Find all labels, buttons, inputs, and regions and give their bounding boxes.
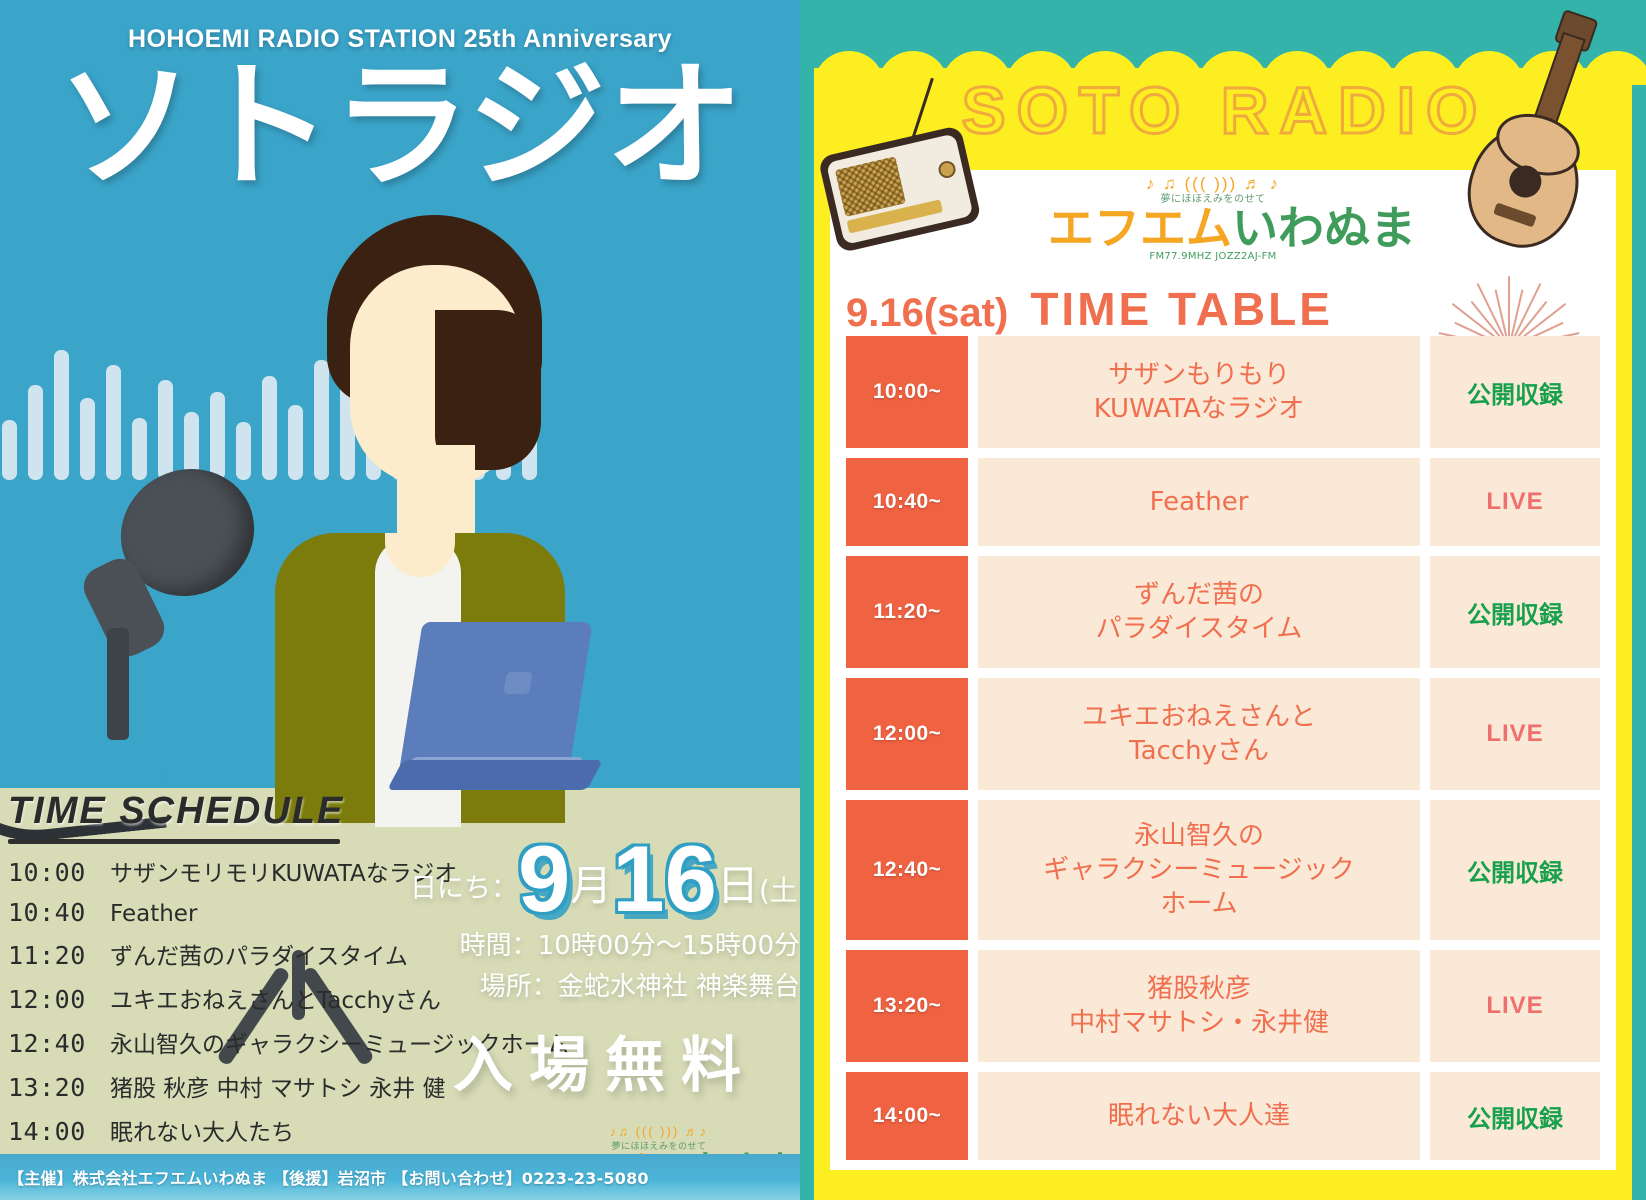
table-cell-kind: 公開収録 bbox=[1430, 1072, 1600, 1160]
date-label: 日にち： bbox=[410, 866, 518, 921]
time-schedule-list: 10:00サザンモリモリKUWATAなラジオ10:40Feather11:20ず… bbox=[8, 854, 448, 1147]
event-date-line: 日にち： 9 月 16 日 (土) bbox=[410, 838, 800, 921]
program-line: パラダイスタイム bbox=[1096, 612, 1303, 646]
table-cell-program: 永山智久のギャラクシーミュージックホーム bbox=[978, 800, 1420, 940]
table-cell-kind: 公開収録 bbox=[1430, 556, 1600, 668]
table-row: 11:20~ずんだ茜のパラダイスタイム公開収録 bbox=[846, 556, 1600, 668]
schedule-row-program: 猪股 秋彦 中村 マサトシ 永井 健 bbox=[110, 1069, 446, 1103]
date-day-number: 16 bbox=[612, 838, 717, 921]
program-line: Feather bbox=[1150, 485, 1249, 519]
waveform-bar bbox=[132, 418, 147, 480]
status-badge: 公開収録 bbox=[1467, 853, 1563, 888]
program-line: 永山智久の bbox=[1134, 819, 1264, 853]
station-name-part-b: いわぬま bbox=[1232, 201, 1416, 255]
table-cell-time: 11:20~ bbox=[846, 556, 968, 668]
table-cell-program: サザンもりもりKUWATAなラジオ bbox=[978, 336, 1420, 448]
schedule-row: 11:20ずんだ茜のパラダイスタイム bbox=[8, 937, 448, 971]
schedule-row: 14:00眠れない大人たち bbox=[8, 1113, 448, 1147]
status-badge: LIVE bbox=[1486, 992, 1543, 1020]
weekday-label: (土) bbox=[759, 869, 800, 921]
status-badge: LIVE bbox=[1486, 488, 1543, 516]
table-cell-program: Feather bbox=[978, 458, 1420, 546]
program-line: KUWATAなラジオ bbox=[1094, 392, 1305, 426]
time-schedule-divider bbox=[8, 839, 340, 844]
time-table-label: TIME TABLE bbox=[1030, 282, 1333, 336]
waveform-bar bbox=[106, 365, 121, 480]
time-table-date: 9.16(sat) bbox=[846, 291, 1008, 336]
table-cell-kind: 公開収録 bbox=[1430, 800, 1600, 940]
footer-credits-band: 【主催】株式会社エフエムいわぬま 【後援】岩沼市 【お問い合わせ】0223-23… bbox=[0, 1154, 800, 1200]
schedule-row-time: 14:00 bbox=[8, 1117, 100, 1146]
table-cell-time: 10:00~ bbox=[846, 336, 968, 448]
laptop-logo-patch bbox=[503, 672, 532, 694]
program-line: ユキエおねえさんと bbox=[1082, 700, 1316, 734]
schedule-row-program: サザンモリモリKUWATAなラジオ bbox=[110, 854, 457, 888]
table-cell-kind: LIVE bbox=[1430, 950, 1600, 1062]
music-notes-icon: ♪♫ ((( ))) ♬♪ bbox=[524, 1124, 794, 1139]
schedule-row-program: 眠れない大人たち bbox=[110, 1113, 294, 1147]
table-row: 12:40~永山智久のギャラクシーミュージックホーム公開収録 bbox=[846, 800, 1600, 940]
waveform-bar bbox=[28, 385, 43, 480]
right-poster: SOTO RADIO ♪ ♫ ((( ))) ♬ ♪ 夢にほほえみをのせて エフ… bbox=[800, 0, 1646, 1200]
event-place-line: 場所：金蛇水神社 神楽舞台 bbox=[410, 966, 800, 1003]
event-time-line: 時間：10時00分～15時00分 bbox=[410, 925, 800, 962]
time-table-header: 9.16(sat) TIME TABLE bbox=[846, 282, 1386, 336]
month-kanji: 月 bbox=[570, 852, 612, 921]
schedule-row: 10:00サザンモリモリKUWATAなラジオ bbox=[8, 854, 448, 888]
program-line: ずんだ茜の bbox=[1134, 578, 1264, 612]
station-name: エフエムいわぬま bbox=[1048, 205, 1378, 251]
table-cell-program: ユキエおねえさんとTacchyさん bbox=[978, 678, 1420, 790]
table-cell-time: 12:40~ bbox=[846, 800, 968, 940]
schedule-row: 12:40永山智久のギャラクシーミュージックホーム bbox=[8, 1025, 448, 1059]
schedule-row: 12:00ユキエおねえさんとTacchyさん bbox=[8, 981, 448, 1015]
schedule-row-program: ずんだ茜のパラダイスタイム bbox=[110, 937, 408, 971]
poster-title: ソトラジオ bbox=[0, 52, 800, 201]
program-line: 中村マサトシ・永井健 bbox=[1069, 1006, 1329, 1040]
footer-credits-text: 【主催】株式会社エフエムいわぬま 【後援】岩沼市 【お問い合わせ】0223-23… bbox=[8, 1165, 649, 1189]
sunburst-decoration bbox=[1424, 248, 1594, 348]
event-info-block: 日にち： 9 月 16 日 (土) 時間：10時00分～15時00分 場所：金蛇… bbox=[410, 838, 800, 1104]
program-line: サザンもりもり bbox=[1108, 358, 1290, 392]
table-cell-program: ずんだ茜のパラダイスタイム bbox=[978, 556, 1420, 668]
status-badge: 公開収録 bbox=[1467, 375, 1563, 410]
table-cell-kind: LIVE bbox=[1430, 458, 1600, 546]
status-badge: 公開収録 bbox=[1467, 1099, 1563, 1134]
station-logo-right: ♪ ♫ ((( ))) ♬ ♪ 夢にほほえみをのせて エフエムいわぬま FM77… bbox=[1048, 174, 1378, 262]
waveform-bar bbox=[210, 392, 225, 480]
schedule-row-time: 10:40 bbox=[8, 898, 100, 927]
schedule-row-time: 13:20 bbox=[8, 1073, 100, 1102]
laptop-base bbox=[387, 760, 603, 790]
table-cell-program: 猪股秋彦中村マサトシ・永井健 bbox=[978, 950, 1420, 1062]
table-cell-time: 14:00~ bbox=[846, 1072, 968, 1160]
table-row: 13:20~猪股秋彦中村マサトシ・永井健LIVE bbox=[846, 950, 1600, 1062]
table-cell-time: 12:00~ bbox=[846, 678, 968, 790]
table-row: 14:00~眠れない大人達公開収録 bbox=[846, 1072, 1600, 1160]
program-line: Tacchyさん bbox=[1129, 734, 1269, 768]
waveform-bar bbox=[80, 398, 95, 480]
schedule-row-program: Feather bbox=[110, 901, 197, 927]
schedule-row-time: 12:00 bbox=[8, 985, 100, 1014]
time-schedule-title: TIME SCHEDULE bbox=[8, 790, 448, 833]
table-cell-kind: 公開収録 bbox=[1430, 336, 1600, 448]
table-cell-kind: LIVE bbox=[1430, 678, 1600, 790]
program-line: 猪股秋彦 bbox=[1147, 972, 1251, 1006]
schedule-row-time: 11:20 bbox=[8, 941, 100, 970]
table-cell-program: 眠れない大人達 bbox=[978, 1072, 1420, 1160]
time-schedule-block: TIME SCHEDULE 10:00サザンモリモリKUWATAなラジオ10:4… bbox=[8, 790, 448, 1157]
waveform-bar bbox=[54, 350, 69, 480]
free-admission-text: 入場無料 bbox=[410, 1017, 800, 1104]
table-row: 10:00~サザンもりもりKUWATAなラジオ公開収録 bbox=[846, 336, 1600, 448]
status-badge: LIVE bbox=[1486, 720, 1543, 748]
station-name-part-a: エフエム bbox=[1048, 201, 1232, 255]
poster-pair: HOHOEMI RADIO STATION 25th Anniversary ソ… bbox=[0, 0, 1646, 1200]
day-kanji: 日 bbox=[717, 852, 759, 921]
schedule-row: 13:20猪股 秋彦 中村 マサトシ 永井 健 bbox=[8, 1069, 448, 1103]
table-cell-time: 10:40~ bbox=[846, 458, 968, 546]
status-badge: 公開収録 bbox=[1467, 595, 1563, 630]
time-table: 10:00~サザンもりもりKUWATAなラジオ公開収録10:40~Feather… bbox=[846, 336, 1600, 1170]
left-poster: HOHOEMI RADIO STATION 25th Anniversary ソ… bbox=[0, 0, 800, 1200]
schedule-row-time: 10:00 bbox=[8, 858, 100, 887]
waveform-bar bbox=[158, 380, 173, 480]
program-line: ホーム bbox=[1160, 887, 1237, 921]
schedule-row: 10:40Feather bbox=[8, 898, 448, 927]
table-row: 12:00~ユキエおねえさんとTacchyさんLIVE bbox=[846, 678, 1600, 790]
date-month-number: 9 bbox=[518, 838, 570, 921]
program-line: ギャラクシーミュージック bbox=[1043, 853, 1354, 887]
waveform-bar bbox=[2, 420, 17, 480]
schedule-row-time: 12:40 bbox=[8, 1029, 100, 1058]
program-line: 眠れない大人達 bbox=[1108, 1099, 1290, 1133]
schedule-row-program: ユキエおねえさんとTacchyさん bbox=[110, 981, 441, 1015]
table-cell-time: 13:20~ bbox=[846, 950, 968, 1062]
table-row: 10:40~FeatherLIVE bbox=[846, 458, 1600, 546]
